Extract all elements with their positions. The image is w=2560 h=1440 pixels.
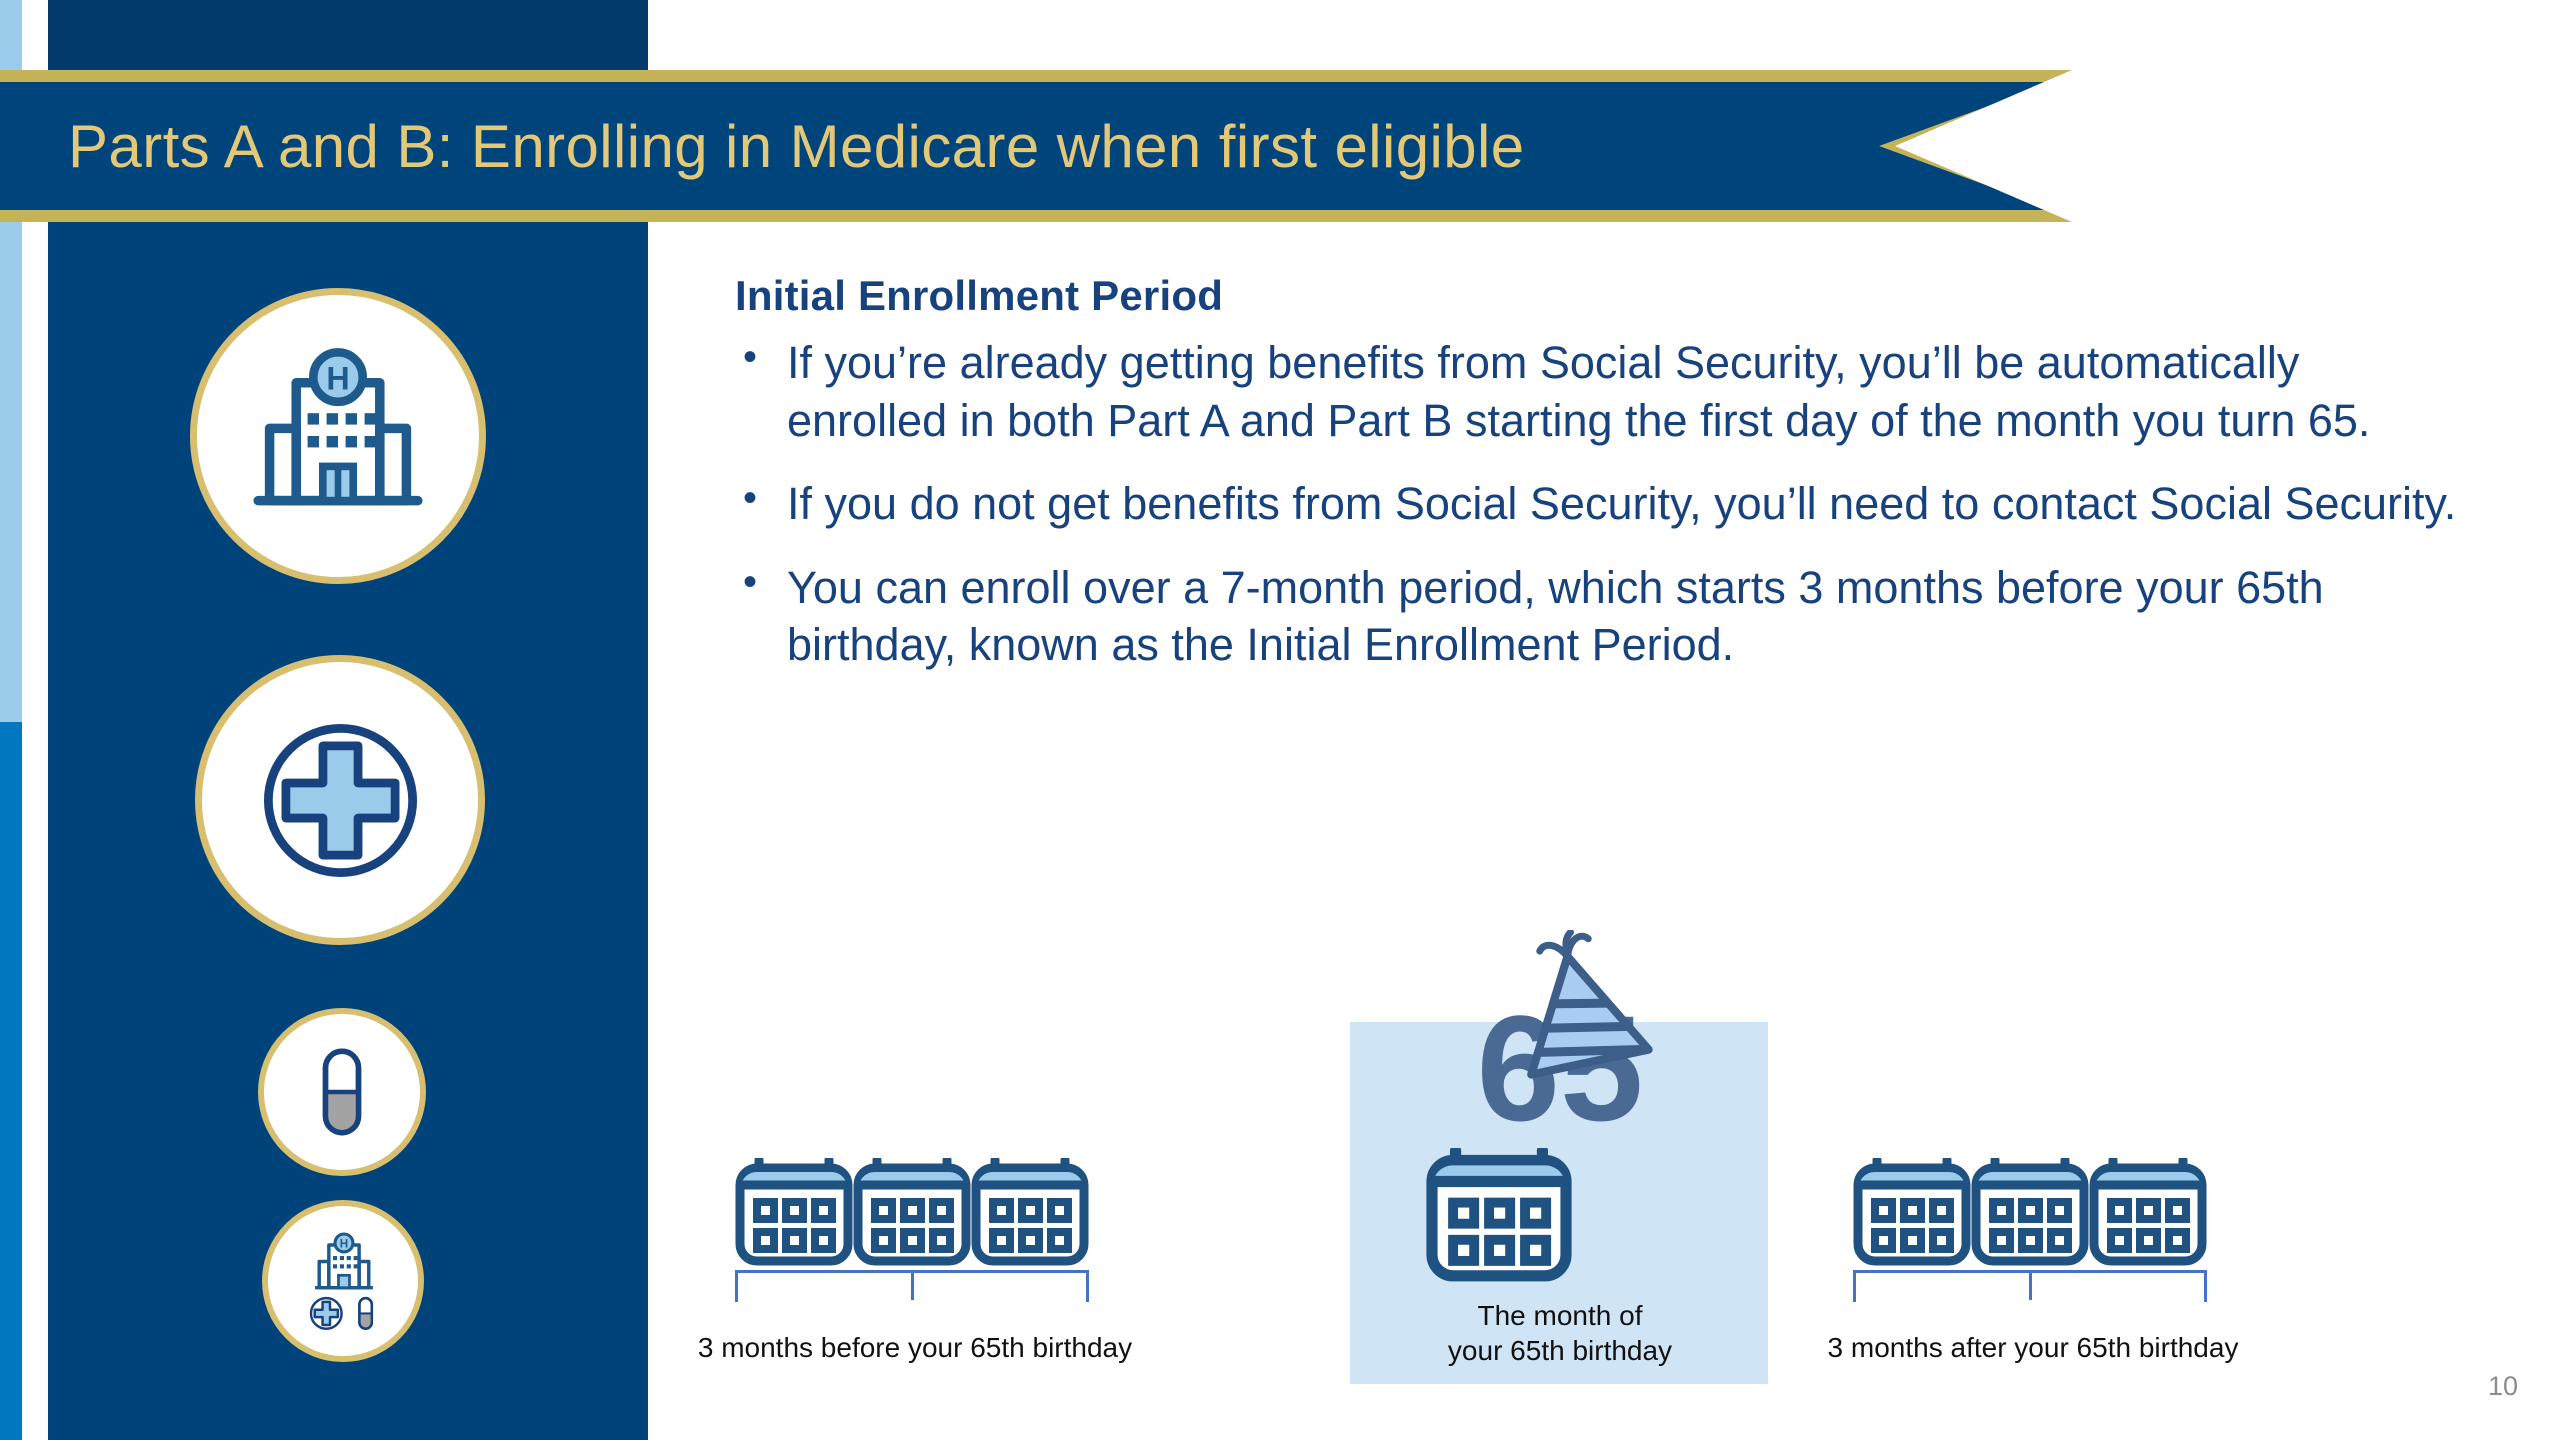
sidebar-icon-hospital: H: [190, 288, 486, 584]
enrollment-timeline: 65: [735, 930, 2415, 1380]
page-number: 10: [2488, 1371, 2518, 1402]
caption-before: 3 months before your 65th birthday: [695, 1330, 1135, 1365]
page-title: Parts A and B: Enrolling in Medicare whe…: [68, 70, 1868, 222]
birthday-65-badge: 65: [1395, 930, 1725, 1160]
left-edge-stripe-mid: [0, 722, 22, 1440]
combined-benefits-icon: H: [284, 1222, 402, 1340]
svg-text:H: H: [340, 1237, 348, 1250]
sidebar-top-block: [48, 0, 648, 72]
calendar-icon: [2089, 1158, 2207, 1266]
section-heading: Initial Enrollment Period: [735, 272, 2465, 320]
calendar-icon-birthday-month: [1425, 1148, 1573, 1282]
pill-capsule-icon: [287, 1037, 397, 1147]
bullet-item: You can enroll over a 7-month period, wh…: [735, 559, 2465, 674]
sidebar-icon-combined: H: [262, 1200, 424, 1362]
caption-birthday-month-line2: your 65th birthday: [1355, 1333, 1765, 1368]
slide-canvas: H: [0, 0, 2560, 1440]
svg-text:H: H: [326, 360, 349, 396]
bracket-after-tick: [2029, 1270, 2032, 1300]
calendar-icon: [1971, 1158, 2089, 1266]
hospital-icon: H: [243, 341, 433, 531]
bullet-item: If you’re already getting benefits from …: [735, 334, 2465, 449]
sidebar-icon-cross: [195, 655, 485, 945]
content-area: Initial Enrollment Period If you’re alre…: [735, 272, 2465, 700]
calendar-icon: [735, 1158, 853, 1266]
calendar-icon: [853, 1158, 971, 1266]
calendar-icon: [1853, 1158, 1971, 1266]
sidebar-icon-pill: [258, 1008, 426, 1176]
caption-after: 3 months after your 65th birthday: [1813, 1330, 2253, 1365]
caption-birthday-month: The month of your 65th birthday: [1355, 1298, 1765, 1368]
medical-cross-icon: [243, 703, 438, 898]
caption-birthday-month-line1: The month of: [1355, 1298, 1765, 1333]
bracket-before-tick: [911, 1270, 914, 1300]
calendar-icon: [971, 1158, 1089, 1266]
bullet-list: If you’re already getting benefits from …: [735, 334, 2465, 674]
bullet-item: If you do not get benefits from Social S…: [735, 475, 2465, 533]
